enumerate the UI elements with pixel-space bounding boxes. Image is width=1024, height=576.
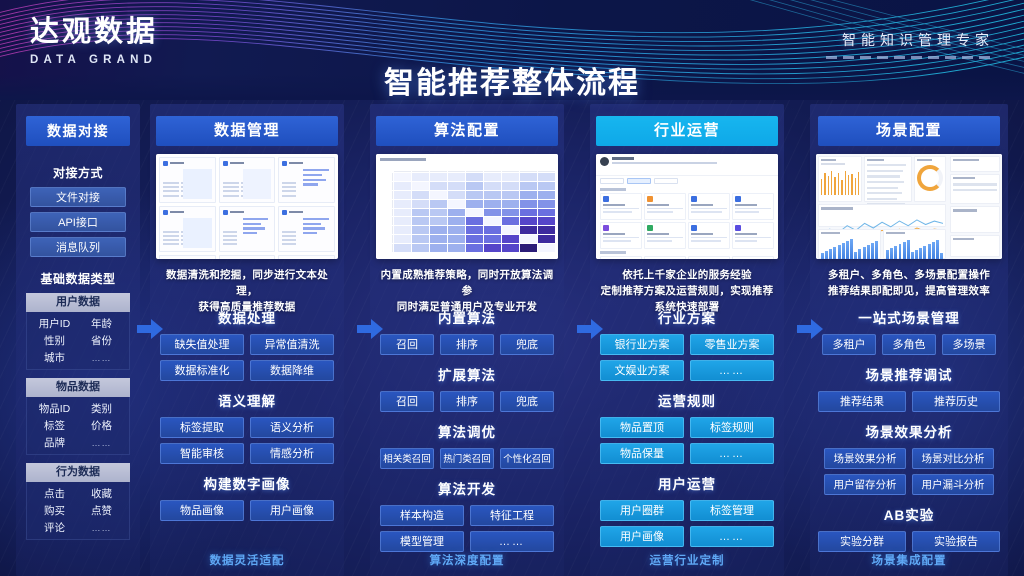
solution-card: [732, 256, 774, 259]
dashboard-blue-bar-card-1: [818, 229, 881, 259]
chip-extended-recall[interactable]: 召回: [380, 391, 434, 412]
blue-bar: [899, 244, 902, 259]
chip-personalized-recall[interactable]: 个性化召回: [500, 448, 554, 469]
feature-groups-algorithm-config: 内置算法 召回 排序 兜底 扩展算法 召回 排序 兜底 算法调优 相关类召回: [378, 307, 556, 552]
column-header-algorithm-config[interactable]: 算法配置: [376, 116, 558, 146]
blue-bar-chart-1: [821, 237, 878, 259]
chip-data-standardization[interactable]: 数据标准化: [160, 360, 244, 381]
heatmap-grid: [379, 164, 555, 252]
field-brand: 品牌: [33, 436, 76, 450]
blue-bar: [903, 242, 906, 259]
flow-columns: 数据对接 对接方式 文件对接 API接口 消息队列 基础数据类型 用户数据 用户…: [0, 104, 1024, 576]
dashboard-bar-card: [818, 156, 862, 202]
field-like: 点赞: [80, 504, 123, 518]
slide-root: 达观数据 DATA GRAND 智能知识管理专家 智能推荐整体流程 数据对接 对…: [0, 0, 1024, 576]
chip-user-portrait[interactable]: 用户画像: [600, 526, 684, 547]
chip-model-management[interactable]: 模型管理: [380, 531, 464, 552]
blue-bar: [923, 246, 926, 259]
chip-user-grouping[interactable]: 用户圈群: [600, 500, 684, 521]
group-chips-data-processing: 缺失值处理 异常值清洗 数据标准化 数据降维: [158, 334, 336, 381]
column-header-industry-operations[interactable]: 行业运营: [596, 116, 778, 146]
field-price: 价格: [80, 419, 123, 433]
chip-experiment-grouping[interactable]: 实验分群: [818, 531, 906, 552]
mini-card: [278, 206, 335, 252]
blue-bar: [886, 250, 889, 259]
field-favorite: 收藏: [80, 487, 123, 501]
chip-banking-solution[interactable]: 银行业方案: [600, 334, 684, 355]
solution-card: [732, 222, 774, 249]
chip-user-profile[interactable]: 用户画像: [250, 500, 334, 521]
column-header-scenario-config[interactable]: 场景配置: [818, 116, 1000, 146]
group-chips-builtin-algorithms: 召回 排序 兜底: [378, 334, 556, 355]
group-title-algorithm-tuning: 算法调优: [378, 421, 556, 441]
group-title-digital-profile: 构建数字画像: [158, 473, 336, 493]
mini-card: [159, 157, 216, 203]
chip-outlier-cleaning[interactable]: 异常值清洗: [250, 334, 334, 355]
thumbnail-industry-operations[interactable]: [596, 154, 778, 259]
solution-card: [732, 193, 774, 220]
orange-bar: [845, 171, 846, 195]
blue-bar: [932, 242, 935, 259]
field-click: 点击: [33, 487, 76, 501]
bottom-label-industry-operations: 运营行业定制: [590, 552, 784, 568]
list-row: [867, 175, 900, 177]
blue-bar: [854, 252, 857, 259]
logo-chinese-name: 达观数据: [30, 18, 158, 47]
dashboard-side-card: [950, 174, 1000, 204]
chip-related-recall[interactable]: 相关类召回: [380, 448, 434, 469]
group-title-user-operations: 用户运营: [598, 473, 776, 493]
bottom-label-algorithm-config: 算法深度配置: [370, 552, 564, 568]
chip-algorithm-dev-more[interactable]: ……: [470, 531, 554, 552]
mini-card: [159, 255, 216, 260]
mini-card: [278, 255, 335, 260]
mini-card-grid: [159, 157, 335, 256]
field-item-id: 物品ID: [33, 402, 76, 416]
thumbnail-data-management[interactable]: [156, 154, 338, 259]
blue-bar: [894, 246, 897, 259]
field-user-id: 用户ID: [33, 317, 76, 331]
group-chips-user-operations: 用户圈群 标签管理 用户画像 ……: [598, 500, 776, 547]
orange-bar: [851, 174, 852, 196]
list-row: [867, 187, 898, 189]
orange-bar: [841, 180, 842, 196]
blue-bar: [821, 253, 824, 259]
field-age: 年龄: [80, 317, 123, 331]
solution-tab-active: [627, 178, 651, 184]
chip-tag-rules[interactable]: 标签规则: [690, 417, 774, 438]
heatmap-matrix: [376, 154, 558, 259]
group-chips-algorithm-development: 样本构造 特征工程 模型管理 ……: [378, 505, 556, 552]
column-header-data-docking[interactable]: 数据对接: [26, 116, 130, 146]
chip-tag-extraction[interactable]: 标签提取: [160, 417, 244, 438]
chip-experiment-report[interactable]: 实验报告: [912, 531, 1000, 552]
chip-extended-fallback[interactable]: 兜底: [500, 391, 554, 412]
bottom-label-data-management: 数据灵活适配: [150, 552, 344, 568]
chip-builtin-recall[interactable]: 召回: [380, 334, 434, 355]
chip-extended-ranking[interactable]: 排序: [440, 391, 494, 412]
column-data-management: 数据管理: [150, 104, 344, 576]
group-title-builtin-algorithms: 内置算法: [378, 307, 556, 327]
group-title-algorithm-development: 算法开发: [378, 478, 556, 498]
group-chips-extended-algorithms: 召回 排序 兜底: [378, 391, 556, 412]
mini-card: [219, 157, 276, 203]
blue-bar: [846, 241, 849, 259]
solution-card: [600, 256, 642, 259]
chip-scenario-comparison-analysis[interactable]: 场景对比分析: [912, 448, 994, 469]
chip-builtin-ranking[interactable]: 排序: [440, 334, 494, 355]
chip-file-docking[interactable]: 文件对接: [30, 187, 126, 207]
chip-user-funnel-analysis[interactable]: 用户漏斗分析: [912, 474, 994, 495]
field-item-more: ……: [80, 436, 123, 450]
solution-tabs: [596, 176, 778, 186]
solution-card-grid: [596, 154, 778, 259]
page-title: 智能推荐整体流程: [0, 58, 1024, 102]
orange-bar: [848, 175, 849, 195]
column-description-scenario-config: 多租户、多角色、多场景配置操作推荐结果即配即见，提高管理效率: [818, 267, 1000, 299]
field-user-more: ……: [80, 351, 123, 365]
solution-card: [600, 193, 642, 220]
blue-bar-chart-2: [886, 237, 943, 259]
field-gender: 性别: [33, 334, 76, 348]
field-city: 城市: [33, 351, 76, 365]
data-block-item: 物品数据 物品ID 类别 标签 价格 品牌 ……: [26, 378, 130, 455]
orange-bar: [824, 173, 825, 196]
donut-chart: [917, 165, 943, 191]
chip-multi-scenario[interactable]: 多场景: [942, 334, 996, 355]
group-chips-ab-experiment: 实验分群 实验报告: [818, 531, 1000, 552]
section-title-docking-method: 对接方式: [20, 164, 136, 181]
group-title-onestop-scenario-mgmt: 一站式场景管理: [818, 307, 1000, 327]
chip-recommendation-history[interactable]: 推荐历史: [912, 391, 1000, 412]
data-block-user: 用户数据 用户ID 年龄 性别 省份 城市 ……: [26, 293, 130, 370]
solution-card: [600, 222, 642, 249]
flow-arrow-3: [577, 319, 603, 339]
solution-tab: [600, 178, 624, 184]
solution-section-label: [600, 188, 626, 191]
blue-bar: [936, 240, 939, 259]
list-row: [867, 198, 896, 200]
chip-builtin-fallback[interactable]: 兜底: [500, 334, 554, 355]
feature-groups-data-management: 数据处理 缺失值处理 异常值清洗 数据标准化 数据降维 语义理解 标签提取 语义…: [158, 307, 336, 521]
list-row: [867, 181, 904, 183]
flow-arrow-2: [357, 319, 383, 339]
chip-retail-solution[interactable]: 零售业方案: [690, 334, 774, 355]
section-title-base-data-type: 基础数据类型: [20, 270, 136, 287]
header-tagline: 智能知识管理专家: [826, 30, 994, 59]
group-title-extended-algorithms: 扩展算法: [378, 364, 556, 384]
column-data-docking: 数据对接 对接方式 文件对接 API接口 消息队列 基础数据类型 用户数据 用户…: [16, 104, 140, 576]
chip-multi-tenant[interactable]: 多租户: [822, 334, 876, 355]
orange-bar: [838, 173, 839, 195]
field-province: 省份: [80, 334, 123, 348]
chip-hot-recall[interactable]: 热门类召回: [440, 448, 494, 469]
data-block-header-behavior[interactable]: 行为数据: [26, 463, 130, 482]
dashboard-list-card: [864, 156, 912, 202]
field-category: 类别: [80, 402, 123, 416]
blue-bar: [919, 248, 922, 259]
chip-entertainment-solution[interactable]: 文娱业方案: [600, 360, 684, 381]
list-row: [867, 192, 901, 194]
group-title-industry-solutions: 行业方案: [598, 307, 776, 327]
solution-card: [644, 193, 686, 220]
dashboard-donut-card: [914, 156, 946, 202]
orange-bar: [855, 178, 856, 195]
blue-bar: [858, 249, 861, 259]
chip-recommendation-result[interactable]: 推荐结果: [818, 391, 906, 412]
flow-arrow-1: [137, 319, 163, 339]
solution-grid-row: [596, 222, 778, 249]
mini-card: [219, 206, 276, 252]
group-chips-algorithm-tuning: 相关类召回 热门类召回 个性化召回: [378, 448, 556, 469]
group-chips-industry-solutions: 银行业方案 零售业方案 文娱业方案 ……: [598, 334, 776, 381]
group-title-scenario-recommend-debug: 场景推荐调试: [818, 364, 1000, 384]
ranking-list: [867, 164, 909, 205]
group-chips-scenario-recommend-debug: 推荐结果 推荐历史: [818, 391, 1000, 412]
list-row: [867, 170, 903, 172]
blue-bar: [907, 240, 910, 259]
field-purchase: 购买: [33, 504, 76, 518]
solution-card: [688, 222, 730, 249]
blue-bar: [863, 247, 866, 259]
chip-operation-rules-more[interactable]: ……: [690, 443, 774, 464]
chip-sentiment-analysis[interactable]: 情感分析: [250, 443, 334, 464]
mini-card: [278, 157, 335, 203]
chip-industry-solution-more[interactable]: ……: [690, 360, 774, 381]
data-block-behavior: 行为数据 点击 收藏 购买 点赞 评论 ……: [26, 463, 130, 540]
chip-sample-construction[interactable]: 样本构造: [380, 505, 464, 526]
orange-bar: [821, 179, 822, 195]
blue-bar: [915, 250, 918, 259]
chip-missing-value-handling[interactable]: 缺失值处理: [160, 334, 244, 355]
group-chips-semantic-understanding: 标签提取 语义分析 智能审核 情感分析: [158, 417, 336, 464]
data-block-header-item[interactable]: 物品数据: [26, 378, 130, 397]
dashboard-side-card: [950, 235, 1000, 257]
blue-bar: [833, 247, 836, 259]
chip-semantic-analysis[interactable]: 语义分析: [250, 417, 334, 438]
dashboard-blue-bar-card-2: [883, 229, 946, 259]
blue-bar: [928, 244, 931, 259]
group-title-scenario-effect-analysis: 场景效果分析: [818, 421, 1000, 441]
field-comment: 评论: [33, 521, 76, 535]
blue-bar: [838, 245, 841, 259]
blue-bar: [867, 245, 870, 259]
thumbnail-algorithm-config[interactable]: [376, 154, 558, 259]
blue-bar: [911, 252, 914, 259]
orange-bar: [828, 176, 829, 195]
solution-grid-row: [596, 193, 778, 220]
mini-card: [159, 206, 216, 252]
solution-card: [644, 256, 686, 259]
bottom-label-scenario-config: 场景集成配置: [810, 552, 1008, 568]
chip-item-profile[interactable]: 物品画像: [160, 500, 244, 521]
solution-tab: [654, 178, 678, 184]
blue-bar: [842, 243, 845, 259]
solution-card: [644, 222, 686, 249]
chip-smart-review[interactable]: 智能审核: [160, 443, 244, 464]
group-title-data-processing: 数据处理: [158, 307, 336, 327]
feature-groups-scenario-config: 一站式场景管理 多租户 多角色 多场景 场景推荐调试 推荐结果 推荐历史 场景效…: [818, 307, 1000, 552]
blue-bar: [940, 253, 943, 259]
chip-scenario-effect-analysis[interactable]: 场景效果分析: [824, 448, 906, 469]
solution-title-lines: [612, 157, 717, 164]
dashboard-side-card: [950, 156, 1000, 172]
chip-user-operations-more[interactable]: ……: [690, 526, 774, 547]
dashboard-side-card: [950, 206, 1000, 232]
chip-api-interface[interactable]: API接口: [30, 212, 126, 232]
column-header-data-management[interactable]: 数据管理: [156, 116, 338, 146]
solution-logo-icon: [600, 157, 609, 166]
blue-bar: [875, 241, 878, 259]
solution-grid-row: [596, 256, 778, 259]
column-scenario-config: 场景配置: [810, 104, 1008, 576]
flow-arrow-4: [797, 319, 823, 339]
blue-bar: [825, 251, 828, 259]
column-algorithm-config: 算法配置 内置成熟推荐策略，同时开放算法调参同时满足普通用户及专业开发 内置算法…: [370, 104, 564, 576]
chip-item-pinning[interactable]: 物品置顶: [600, 417, 684, 438]
orange-bar: [858, 172, 859, 195]
blue-bar: [829, 249, 832, 259]
blue-bar: [850, 239, 853, 259]
mini-card: [219, 255, 276, 260]
orange-bar-chart: [821, 169, 859, 195]
header-tagline-text: 智能知识管理专家: [826, 30, 994, 50]
thumbnail-scenario-config[interactable]: [816, 154, 1002, 259]
chip-message-queue[interactable]: 消息队列: [30, 237, 126, 257]
solution-card: [688, 256, 730, 259]
chip-tag-management[interactable]: 标签管理: [690, 500, 774, 521]
group-chips-operation-rules: 物品置顶 标签规则 物品保量 ……: [598, 417, 776, 464]
field-tag: 标签: [33, 419, 76, 433]
chip-multi-role[interactable]: 多角色: [882, 334, 936, 355]
chip-item-guaranteed-volume[interactable]: 物品保量: [600, 443, 684, 464]
list-row: [867, 164, 905, 166]
dashboard-line-card: [818, 204, 946, 226]
chip-user-retention-analysis[interactable]: 用户留存分析: [824, 474, 906, 495]
blue-bar: [871, 243, 874, 259]
solution-card: [688, 193, 730, 220]
analytics-dashboard: [816, 154, 1002, 259]
chip-feature-engineering[interactable]: 特征工程: [470, 505, 554, 526]
field-behavior-more: ……: [80, 521, 123, 535]
solution-section-label: [600, 251, 626, 254]
blue-bar: [890, 248, 893, 259]
data-block-header-user[interactable]: 用户数据: [26, 293, 130, 312]
heatmap-title-bar: [380, 158, 426, 161]
orange-bar: [831, 171, 832, 196]
group-title-ab-experiment: AB实验: [818, 504, 1000, 524]
solution-header: [596, 154, 778, 176]
orange-bar: [834, 177, 835, 195]
group-chips-onestop-scenario-mgmt: 多租户 多角色 多场景: [818, 334, 1000, 355]
group-chips-digital-profile: 物品画像 用户画像: [158, 500, 336, 521]
column-industry-operations: 行业运营: [590, 104, 784, 576]
group-title-semantic-understanding: 语义理解: [158, 390, 336, 410]
feature-groups-industry-operations: 行业方案 银行业方案 零售业方案 文娱业方案 …… 运营规则 物品置顶 标签规则…: [598, 307, 776, 547]
group-chips-scenario-effect-analysis: 场景效果分析 场景对比分析 用户留存分析 用户漏斗分析: [818, 448, 1000, 495]
chip-dimensionality-reduction[interactable]: 数据降维: [250, 360, 334, 381]
group-title-operation-rules: 运营规则: [598, 390, 776, 410]
